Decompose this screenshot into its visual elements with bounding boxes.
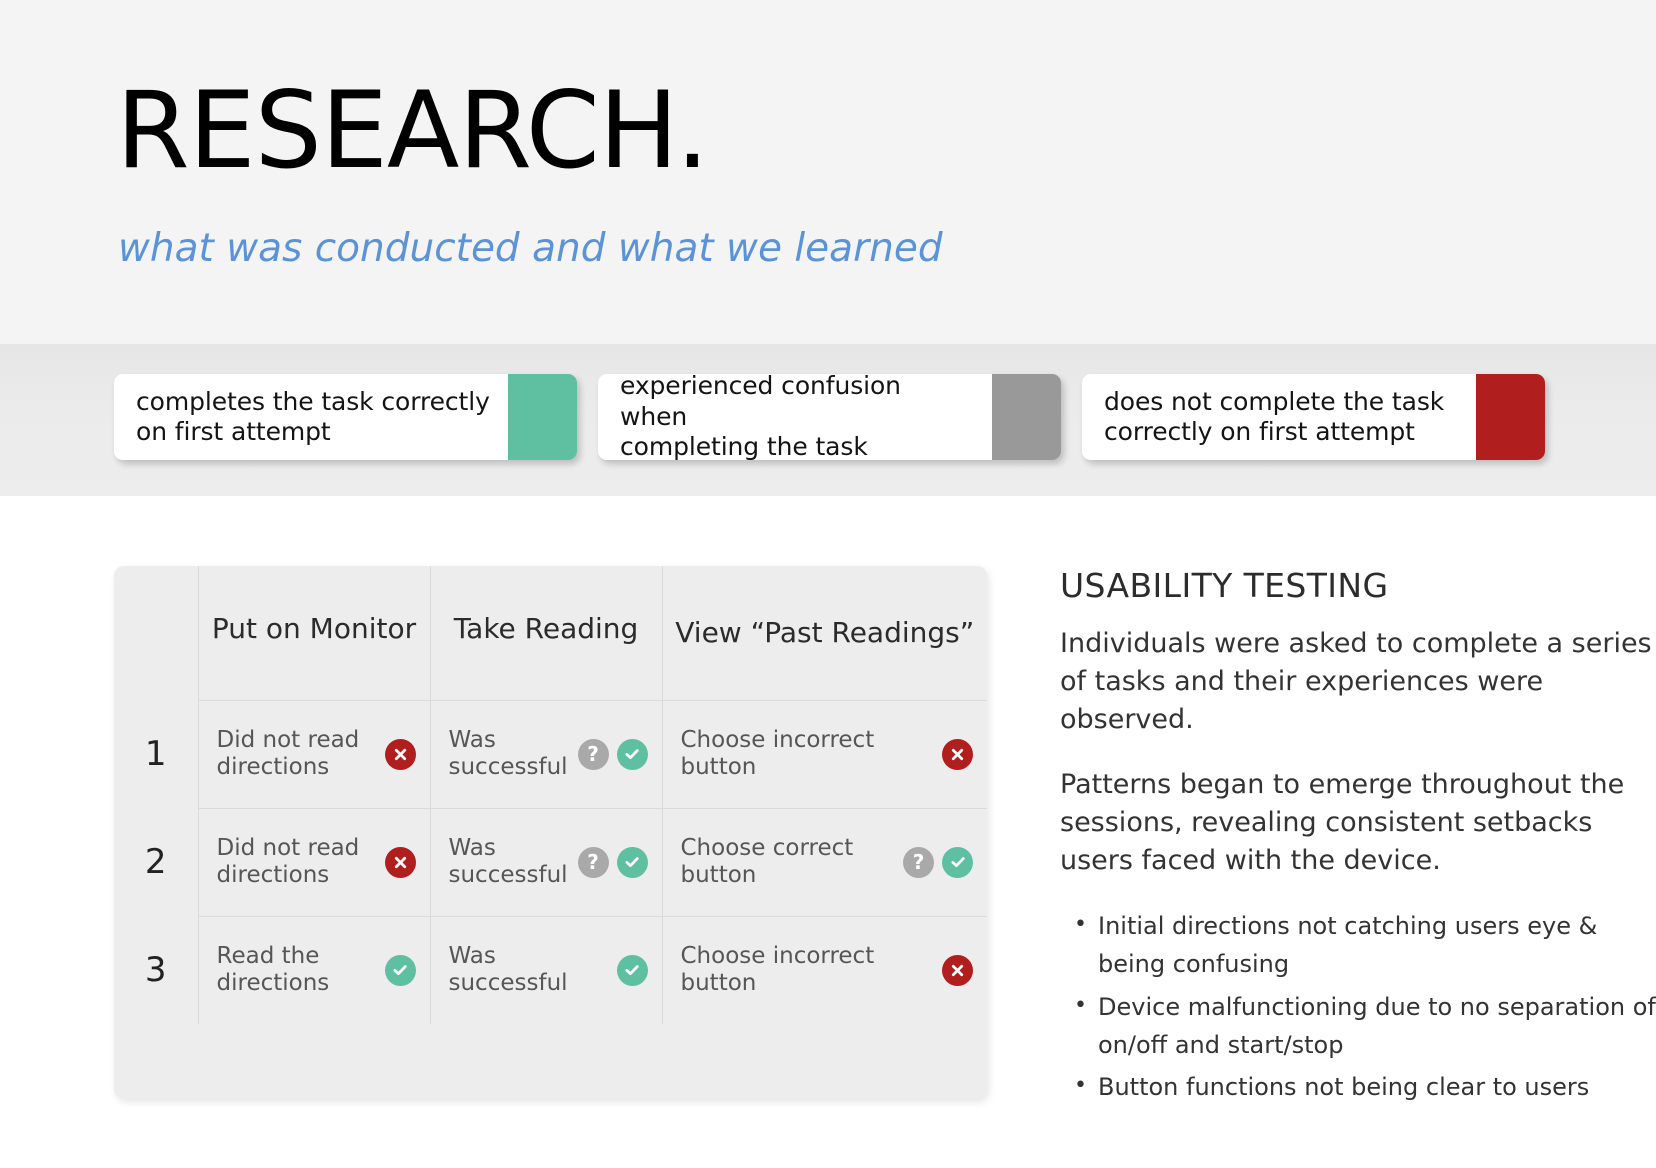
cell-view-past-readings-row-3: Choose incorrect button (662, 916, 987, 1024)
list-item: Button functions not being clear to user… (1060, 1069, 1656, 1107)
cell-label: Did not read directions (217, 727, 377, 781)
col-header-put-on-monitor: Put on Monitor (198, 566, 430, 700)
cell-status-icons (385, 847, 416, 878)
row-index-1: 1 (114, 700, 198, 808)
table-row: 3Read the directionsWas successfulChoose… (114, 916, 987, 1024)
legend-confusion-text: experienced confusion when completing th… (598, 374, 992, 460)
legend-success-swatch (508, 374, 577, 460)
legend-row: completes the task correctly on first at… (114, 374, 1545, 460)
cell-label: Read the directions (217, 943, 377, 997)
cell-content: Did not read directions (217, 809, 416, 916)
question-circle-icon: ? (578, 847, 609, 878)
cell-status-icons: ? (903, 847, 973, 878)
col-header-take-reading: Take Reading (430, 566, 662, 700)
legend-success-line1: completes the task correctly (136, 387, 490, 418)
legend-success-line2: on first attempt (136, 417, 490, 448)
legend-failure-text: does not complete the task correctly on … (1082, 374, 1476, 460)
usability-paragraph-1: Individuals were asked to complete a ser… (1060, 625, 1656, 738)
question-circle-icon: ? (578, 739, 609, 770)
table-head: Put on Monitor Take Reading View “Past R… (114, 566, 987, 700)
check-circle-icon (385, 955, 416, 986)
cell-content: Choose incorrect button (681, 917, 974, 1025)
cell-take-reading-row-2: Was successful? (430, 808, 662, 916)
legend-confusion-line1: experienced confusion when (620, 374, 974, 432)
row-index-3: 3 (114, 916, 198, 1024)
check-circle-icon (617, 847, 648, 878)
slide-root: RESEARCH. what was conducted and what we… (0, 0, 1656, 1168)
table-row: 2Did not read directionsWas successful?C… (114, 808, 987, 916)
legend-failure-swatch (1476, 374, 1545, 460)
cell-status-icons: ? (578, 739, 648, 770)
x-circle-icon (385, 847, 416, 878)
usability-results-card: Put on Monitor Take Reading View “Past R… (114, 566, 987, 1099)
legend-confusion-line2: completing the task (620, 432, 974, 460)
cell-status-icons (942, 739, 973, 770)
cell-label: Did not read directions (217, 835, 377, 889)
usability-results-table: Put on Monitor Take Reading View “Past R… (114, 566, 987, 1024)
cell-label: Choose incorrect button (681, 943, 935, 997)
cell-content: Was successful? (449, 809, 648, 916)
cell-label: Was successful (449, 727, 570, 781)
table-row: 1Did not read directionsWas successful?C… (114, 700, 987, 808)
cell-view-past-readings-row-2: Choose correct button? (662, 808, 987, 916)
question-circle-icon: ? (903, 847, 934, 878)
header-band: RESEARCH. what was conducted and what we… (0, 0, 1656, 344)
cell-take-reading-row-1: Was successful? (430, 700, 662, 808)
usability-testing-panel: USABILITY TESTING Individuals were asked… (1060, 566, 1656, 1112)
legend-item-confusion[interactable]: experienced confusion when completing th… (598, 374, 1061, 460)
cell-content: Was successful (449, 917, 648, 1025)
cell-content: Was successful? (449, 701, 648, 808)
cell-content: Choose incorrect button (681, 701, 974, 808)
legend-confusion-swatch (992, 374, 1061, 460)
cell-label: Choose correct button (681, 835, 896, 889)
legend-item-failure[interactable]: does not complete the task correctly on … (1082, 374, 1545, 460)
findings-list: Initial directions not catching users ey… (1060, 908, 1656, 1108)
cell-status-icons (617, 955, 648, 986)
cell-content: Did not read directions (217, 701, 416, 808)
cell-put-on-monitor-row-1: Did not read directions (198, 700, 430, 808)
cell-content: Choose correct button? (681, 809, 974, 916)
table-body: 1Did not read directionsWas successful?C… (114, 700, 987, 1024)
cell-status-icons: ? (578, 847, 648, 878)
list-item: Initial directions not catching users ey… (1060, 908, 1656, 984)
usability-testing-heading: USABILITY TESTING (1060, 566, 1656, 605)
check-circle-icon (617, 739, 648, 770)
legend-failure-line2: correctly on first attempt (1104, 417, 1444, 448)
legend-item-success[interactable]: completes the task correctly on first at… (114, 374, 577, 460)
x-circle-icon (942, 739, 973, 770)
row-index-2: 2 (114, 808, 198, 916)
cell-label: Choose incorrect button (681, 727, 935, 781)
check-circle-icon (942, 847, 973, 878)
cell-status-icons (385, 739, 416, 770)
cell-put-on-monitor-row-3: Read the directions (198, 916, 430, 1024)
legend-band: completes the task correctly on first at… (0, 344, 1656, 496)
check-circle-icon (617, 955, 648, 986)
cell-view-past-readings-row-1: Choose incorrect button (662, 700, 987, 808)
x-circle-icon (942, 955, 973, 986)
col-header-view-past-readings: View “Past Readings” (662, 566, 987, 700)
cell-status-icons (385, 955, 416, 986)
page-title: RESEARCH. (116, 78, 708, 184)
legend-success-text: completes the task correctly on first at… (114, 374, 508, 460)
usability-paragraph-2: Patterns began to emerge throughout the … (1060, 766, 1656, 879)
cell-content: Read the directions (217, 917, 416, 1025)
cell-put-on-monitor-row-2: Did not read directions (198, 808, 430, 916)
cell-take-reading-row-3: Was successful (430, 916, 662, 1024)
list-item: Device malfunctioning due to no separati… (1060, 989, 1656, 1065)
page-subtitle: what was conducted and what we learned (118, 228, 943, 271)
col-header-index (114, 566, 198, 700)
cell-label: Was successful (449, 835, 570, 889)
cell-label: Was successful (449, 943, 609, 997)
x-circle-icon (385, 739, 416, 770)
legend-failure-line1: does not complete the task (1104, 387, 1444, 418)
cell-status-icons (942, 955, 973, 986)
table-header-row: Put on Monitor Take Reading View “Past R… (114, 566, 987, 700)
